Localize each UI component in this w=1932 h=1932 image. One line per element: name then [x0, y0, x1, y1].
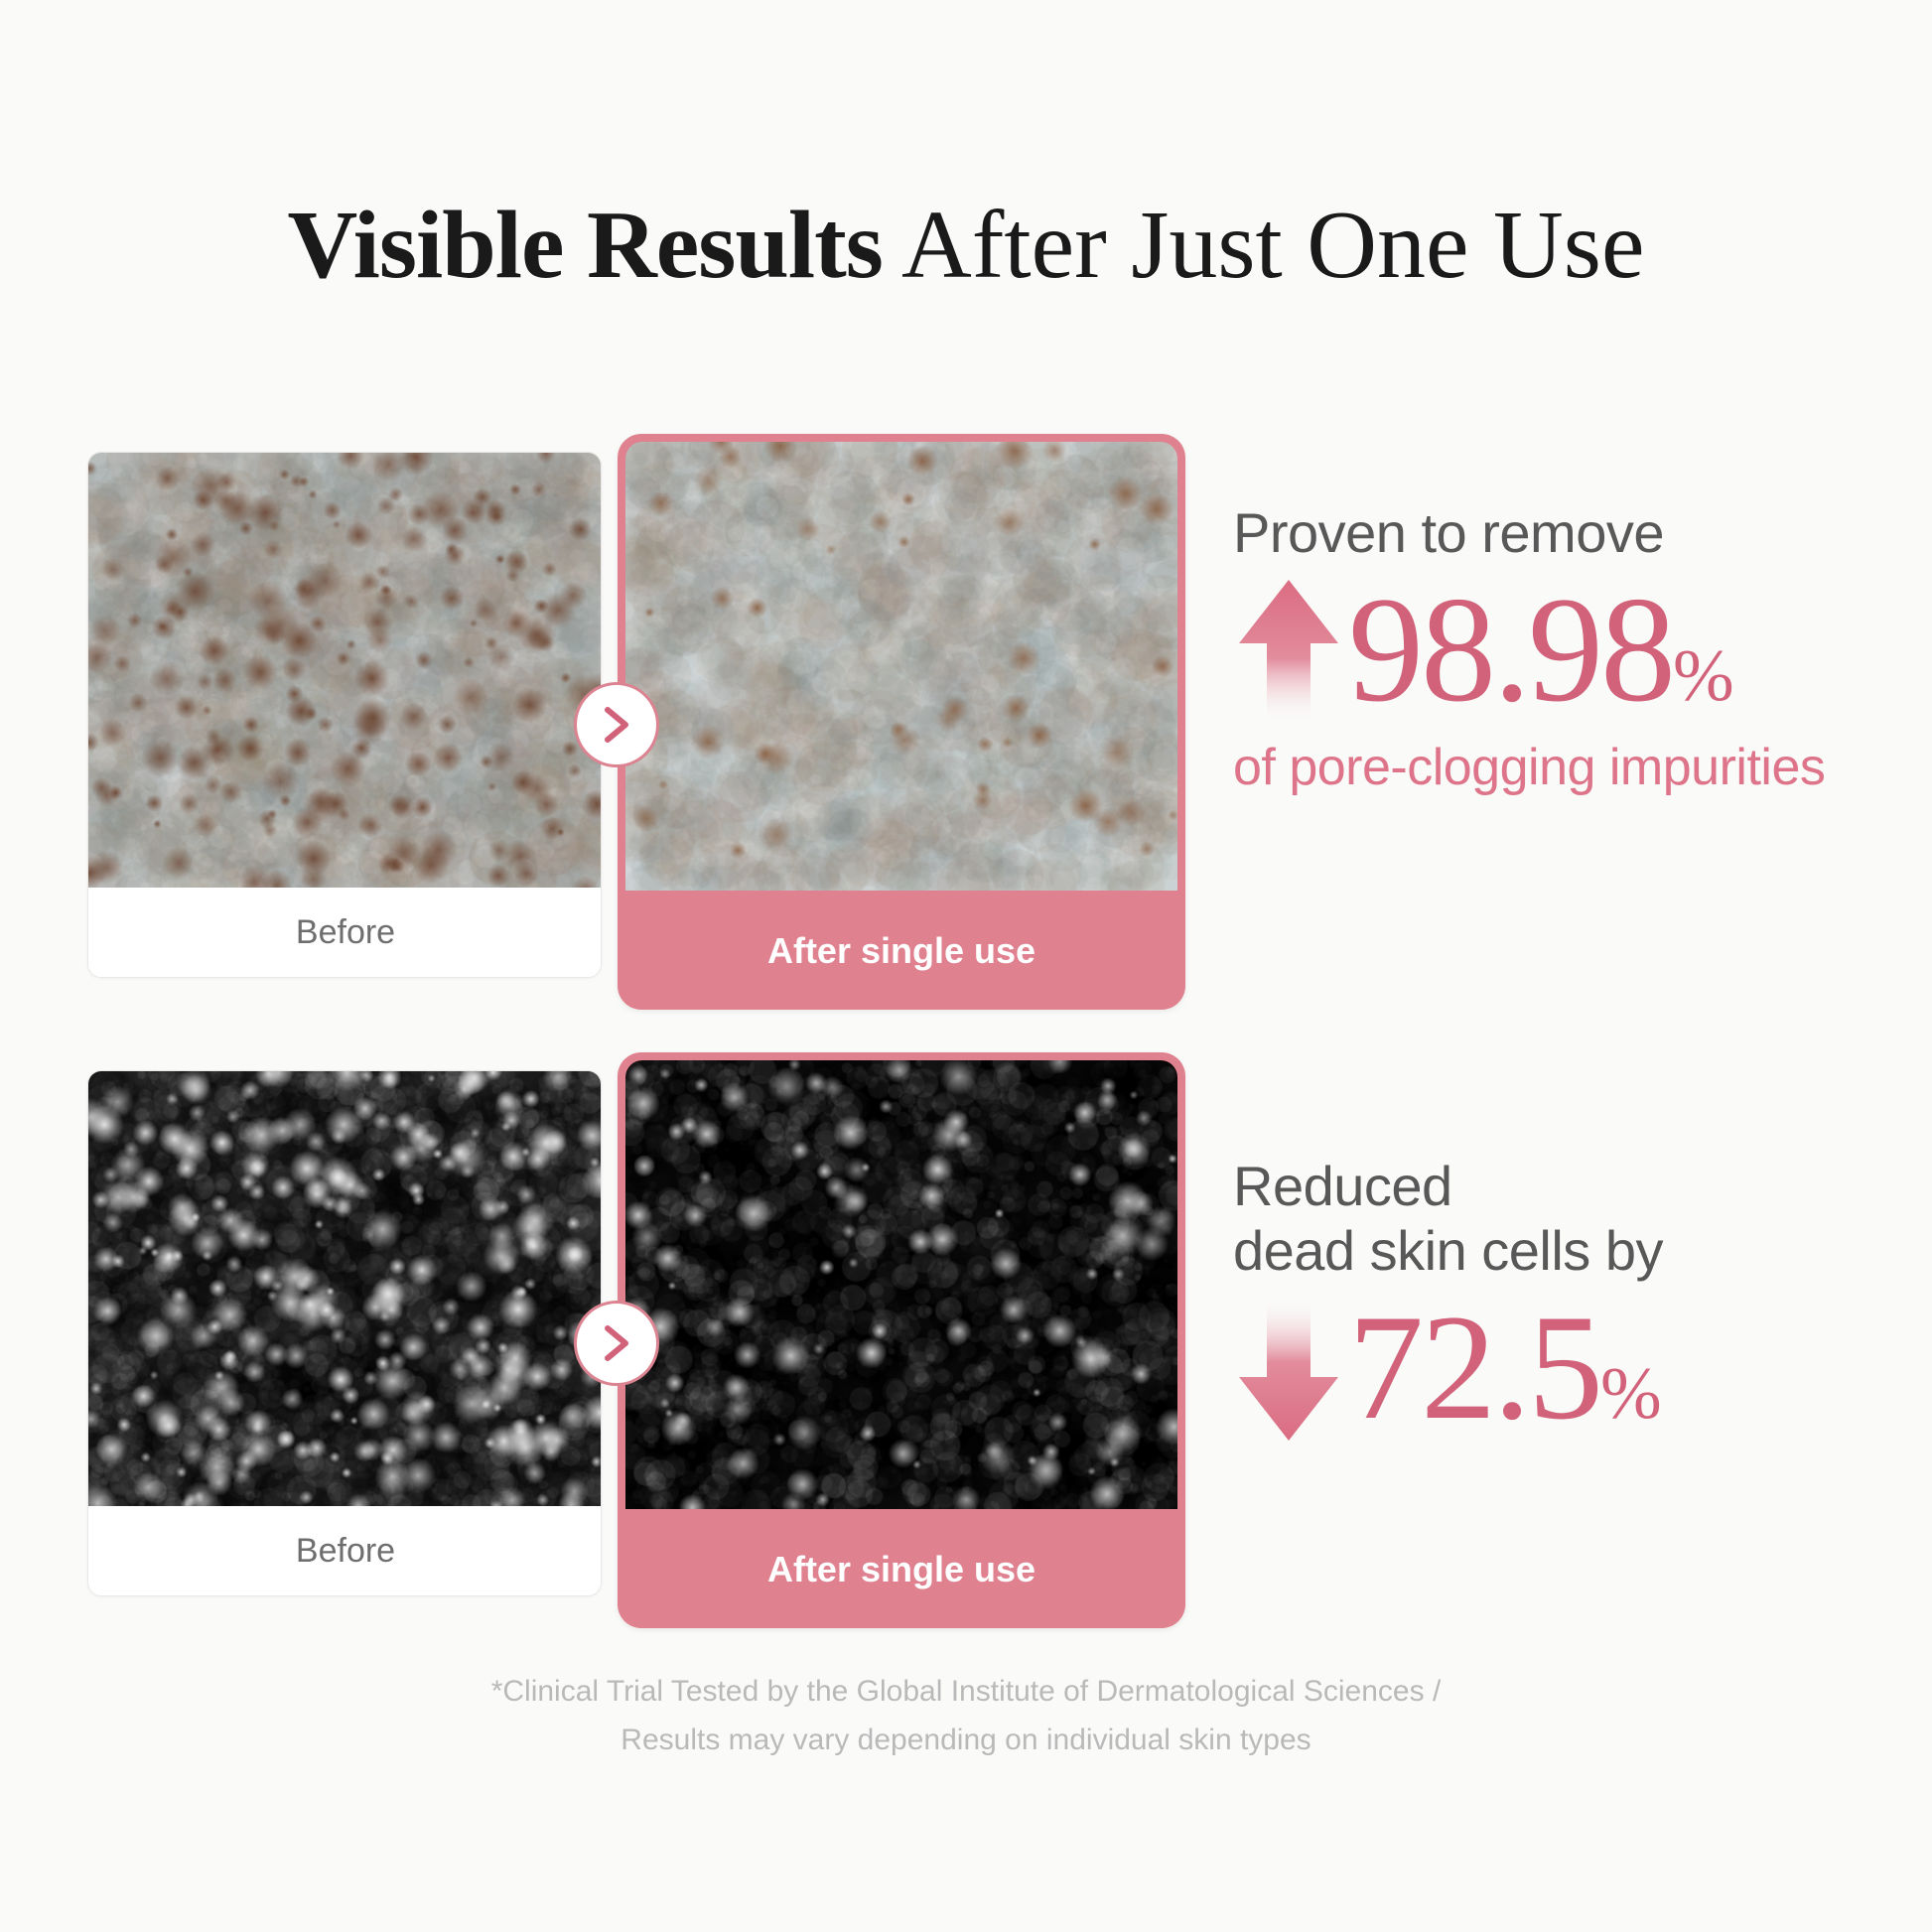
chevron-right-glyph [600, 704, 633, 746]
before-caption-pores: Before [88, 888, 602, 977]
page-title: Visible Results After Just One Use [0, 195, 1932, 297]
after-photo-pores [625, 442, 1177, 891]
footer-disclaimer: *Clinical Trial Tested by the Global Ins… [0, 1668, 1932, 1764]
arrow-up-icon [1233, 574, 1344, 725]
stat-tail-pores: of pore-clogging impurities [1233, 737, 1888, 798]
skin-texture-after-dead-skin [625, 1060, 1177, 1509]
arrow-down-icon [1233, 1292, 1344, 1443]
page-title-light: After Just One Use [883, 192, 1645, 299]
page-title-bold: Visible Results [288, 192, 883, 299]
chevron-right-glyph [600, 1322, 633, 1364]
chevron-right-icon-row1[interactable] [574, 682, 659, 767]
before-card-pores: Before [87, 452, 602, 978]
after-photo-dead-skin [625, 1060, 1177, 1509]
stat-number-pores: 98.98 [1348, 574, 1673, 725]
chevron-right-icon-row2[interactable] [574, 1301, 659, 1386]
skin-texture-before-pores [88, 453, 602, 890]
stat-value-row-pores: 98.98 % [1233, 574, 1888, 725]
infographic-page: Visible Results After Just One Use Befor… [0, 0, 1932, 1932]
skin-texture-before-dead-skin [88, 1071, 602, 1508]
before-photo-dead-skin [88, 1071, 602, 1508]
stat-lead-line2-dead-skin: dead skin cells by [1233, 1219, 1888, 1284]
stat-percent-pores: % [1673, 639, 1734, 725]
stat-block-pores: Proven to remove 98.98 % of pore-cloggin… [1233, 501, 1888, 798]
after-card-pores: After single use [618, 434, 1185, 1010]
before-card-dead-skin: Before [87, 1070, 602, 1596]
stat-lead-line1-dead-skin: Reduced [1233, 1155, 1888, 1219]
stat-percent-dead-skin: % [1600, 1357, 1662, 1443]
footer-line-1: *Clinical Trial Tested by the Global Ins… [0, 1668, 1932, 1717]
skin-texture-after-pores [625, 442, 1177, 891]
stat-lead-pores: Proven to remove [1233, 501, 1888, 566]
stat-value-row-dead-skin: 72.5 % [1233, 1292, 1888, 1443]
footer-line-2: Results may vary depending on individual… [0, 1717, 1932, 1765]
before-photo-pores [88, 453, 602, 890]
comparison-row-dead-skin: Before After single use Reduced dead ski… [0, 1070, 1932, 1646]
stat-number-dead-skin: 72.5 [1348, 1292, 1600, 1443]
stat-block-dead-skin: Reduced dead skin cells by 72.5 % [1233, 1155, 1888, 1443]
comparison-row-pores: Before After single use Proven to remove [0, 452, 1932, 1028]
before-caption-dead-skin: Before [88, 1506, 602, 1595]
after-caption-dead-skin: After single use [618, 1511, 1185, 1628]
after-card-dead-skin: After single use [618, 1052, 1185, 1628]
after-caption-pores: After single use [618, 893, 1185, 1010]
